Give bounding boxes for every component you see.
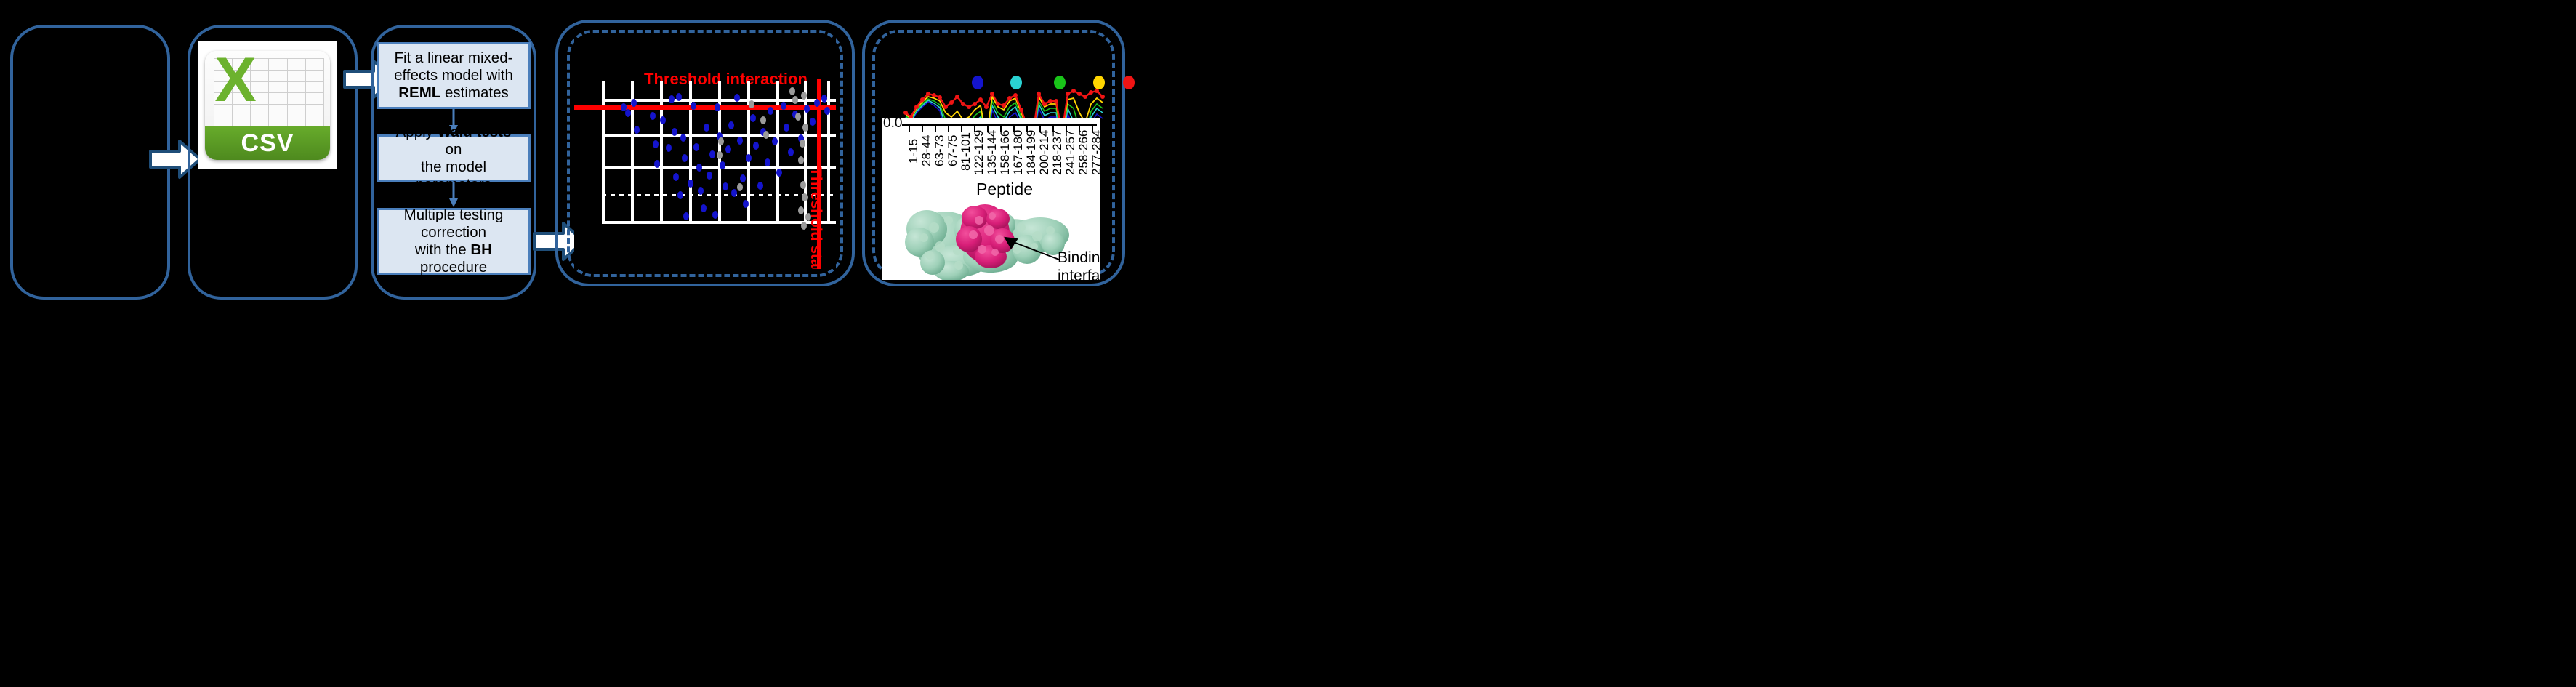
legend-dot-series-1 [972, 76, 983, 89]
data-point-significant [804, 105, 810, 113]
threshold-interaction-label: Threshold interaction [644, 70, 808, 89]
data-point-nonsignificant [737, 183, 743, 191]
data-point-nonsignificant [749, 100, 754, 108]
data-point-significant [683, 212, 689, 220]
data-point-significant [750, 114, 756, 122]
data-point-significant [660, 116, 666, 124]
legend-dot-series-5 [1123, 76, 1135, 89]
csv-label: CSV [241, 129, 294, 158]
data-point-nonsignificant [717, 151, 723, 159]
legend-dot-series-4 [1093, 76, 1105, 89]
data-point-significant [654, 160, 660, 168]
data-point-nonsignificant [798, 156, 804, 164]
data-point-significant [676, 93, 682, 101]
data-point-significant [696, 164, 702, 172]
x-tick-label: 277-284 [1090, 130, 1100, 175]
data-point-significant [821, 95, 827, 103]
step-reml-box[interactable]: Fit a linear mixed-effects model withREM… [377, 42, 531, 109]
csv-file-icon: X CSV [205, 51, 330, 160]
binding-interface-label-line2: interface [1058, 268, 1100, 280]
data-point-significant [669, 95, 675, 103]
x-axis-line [902, 124, 1097, 126]
gridline-v [660, 81, 663, 224]
data-point-significant [693, 143, 699, 151]
gridline-v [602, 81, 605, 224]
data-point-nonsignificant [763, 131, 769, 139]
data-point-nonsignificant [798, 206, 804, 214]
x-tick [909, 126, 910, 132]
data-point-significant [715, 103, 720, 111]
data-point-nonsignificant [802, 124, 808, 132]
x-tick-label: 67-75 [946, 135, 960, 166]
x-tick-label: 258-266 [1076, 130, 1091, 175]
data-point-significant [707, 172, 712, 180]
data-point-significant [631, 99, 637, 107]
x-tick-label: 81-101 [959, 132, 973, 171]
data-point-significant [725, 145, 731, 153]
data-point-significant [728, 121, 734, 129]
data-point-significant [723, 182, 728, 190]
legend-dot-series-3 [1054, 76, 1066, 89]
x-tick-label: 28-44 [919, 135, 934, 166]
data-point-significant [653, 140, 659, 148]
data-point-significant [712, 211, 718, 219]
gridline-v [827, 81, 830, 224]
data-point-significant [746, 154, 752, 162]
gridline-v [776, 81, 779, 224]
x-tick-label: 218-237 [1050, 130, 1065, 175]
data-point-nonsignificant [800, 181, 806, 189]
data-point-significant [634, 126, 640, 134]
x-tick-label: 158-166 [998, 130, 1013, 175]
data-point-significant [737, 137, 743, 145]
data-point-nonsignificant [801, 92, 807, 100]
x-tick-label: 1-15 [906, 139, 921, 164]
x-tick-label: 241-257 [1063, 130, 1078, 175]
x-tick [948, 126, 949, 132]
data-point-significant [753, 142, 759, 150]
data-point-significant [781, 102, 786, 110]
data-point-nonsignificant [795, 113, 801, 121]
input-panel [10, 25, 170, 300]
binding-interface-label-line1: Binding [1058, 249, 1100, 266]
data-point-significant [701, 204, 707, 212]
legend-dot-series-2 [1010, 76, 1022, 89]
data-point-nonsignificant [800, 140, 805, 148]
data-point-nonsignificant [801, 222, 807, 230]
data-point-significant [691, 102, 696, 110]
step-bh-box[interactable]: Multiple testingcorrectionwith the BH pr… [377, 208, 531, 275]
data-point-significant [776, 169, 782, 177]
x-tick [935, 126, 936, 132]
x-tick-label: 63-73 [933, 135, 947, 166]
data-point-significant [677, 191, 683, 199]
x-tick-label: 200-214 [1037, 130, 1052, 175]
data-point-significant [740, 174, 746, 182]
data-point-significant [768, 107, 773, 115]
x-tick-label: 122-129 [972, 130, 986, 175]
step-reml-text: Fit a linear mixed-effects model withREM… [387, 48, 520, 103]
x-tick-label: 184-199 [1024, 130, 1039, 175]
data-point-significant [765, 158, 770, 166]
data-point-significant [731, 189, 737, 197]
data-point-significant [824, 107, 830, 115]
data-point-significant [704, 124, 709, 132]
data-point-significant [814, 99, 820, 107]
data-point-significant [743, 200, 749, 208]
data-point-significant [772, 137, 778, 145]
excel-x-glyph: X [209, 52, 262, 108]
data-point-nonsignificant [792, 96, 798, 104]
data-point-significant [810, 118, 816, 126]
csv-file-card: X CSV [198, 41, 337, 169]
x-axis-title: Peptide [976, 180, 1033, 199]
x-tick [961, 126, 962, 132]
data-point-significant [682, 154, 688, 162]
flowchart-figure: X CSV Fit a linear mixed-effects model w… [0, 0, 2576, 687]
data-point-significant [784, 124, 789, 132]
data-point-significant [650, 112, 656, 120]
y-tick-label: 0.0 [883, 118, 902, 132]
threshold-scatter-plot: Threshold interaction Threshold state [574, 38, 836, 269]
csv-label-band: CSV [205, 126, 330, 160]
data-point-significant [788, 148, 794, 156]
data-point-nonsignificant [789, 87, 795, 95]
data-point-significant [757, 182, 763, 190]
structure-card: 0.0 1-15 28-44 63-73 67-75 81-101 122-12… [882, 118, 1100, 280]
data-point-nonsignificant [760, 116, 766, 124]
data-point-significant [688, 180, 693, 188]
x-tick-label: 135-144 [985, 130, 999, 175]
step-bh-text: Multiple testingcorrectionwith the BH pr… [379, 205, 528, 277]
x-tick-label: 167-180 [1011, 130, 1026, 175]
data-point-significant [680, 134, 686, 142]
data-point-significant [673, 173, 679, 181]
data-point-significant [698, 187, 704, 195]
data-point-significant [666, 144, 672, 152]
binding-interface-label: Binding interface [1058, 249, 1100, 280]
x-tick [922, 126, 923, 132]
data-point-significant [625, 109, 631, 117]
data-point-nonsignificant [805, 213, 811, 221]
data-point-significant [720, 161, 725, 169]
data-point-significant [734, 94, 740, 102]
data-point-nonsignificant [718, 137, 724, 145]
data-point-nonsignificant [802, 193, 808, 201]
threshold-interaction-line [574, 105, 836, 110]
data-point-significant [709, 150, 715, 158]
data-point-significant [672, 128, 677, 136]
step-wald-box[interactable]: Apply Wald tests onthe model parameters [377, 134, 531, 182]
